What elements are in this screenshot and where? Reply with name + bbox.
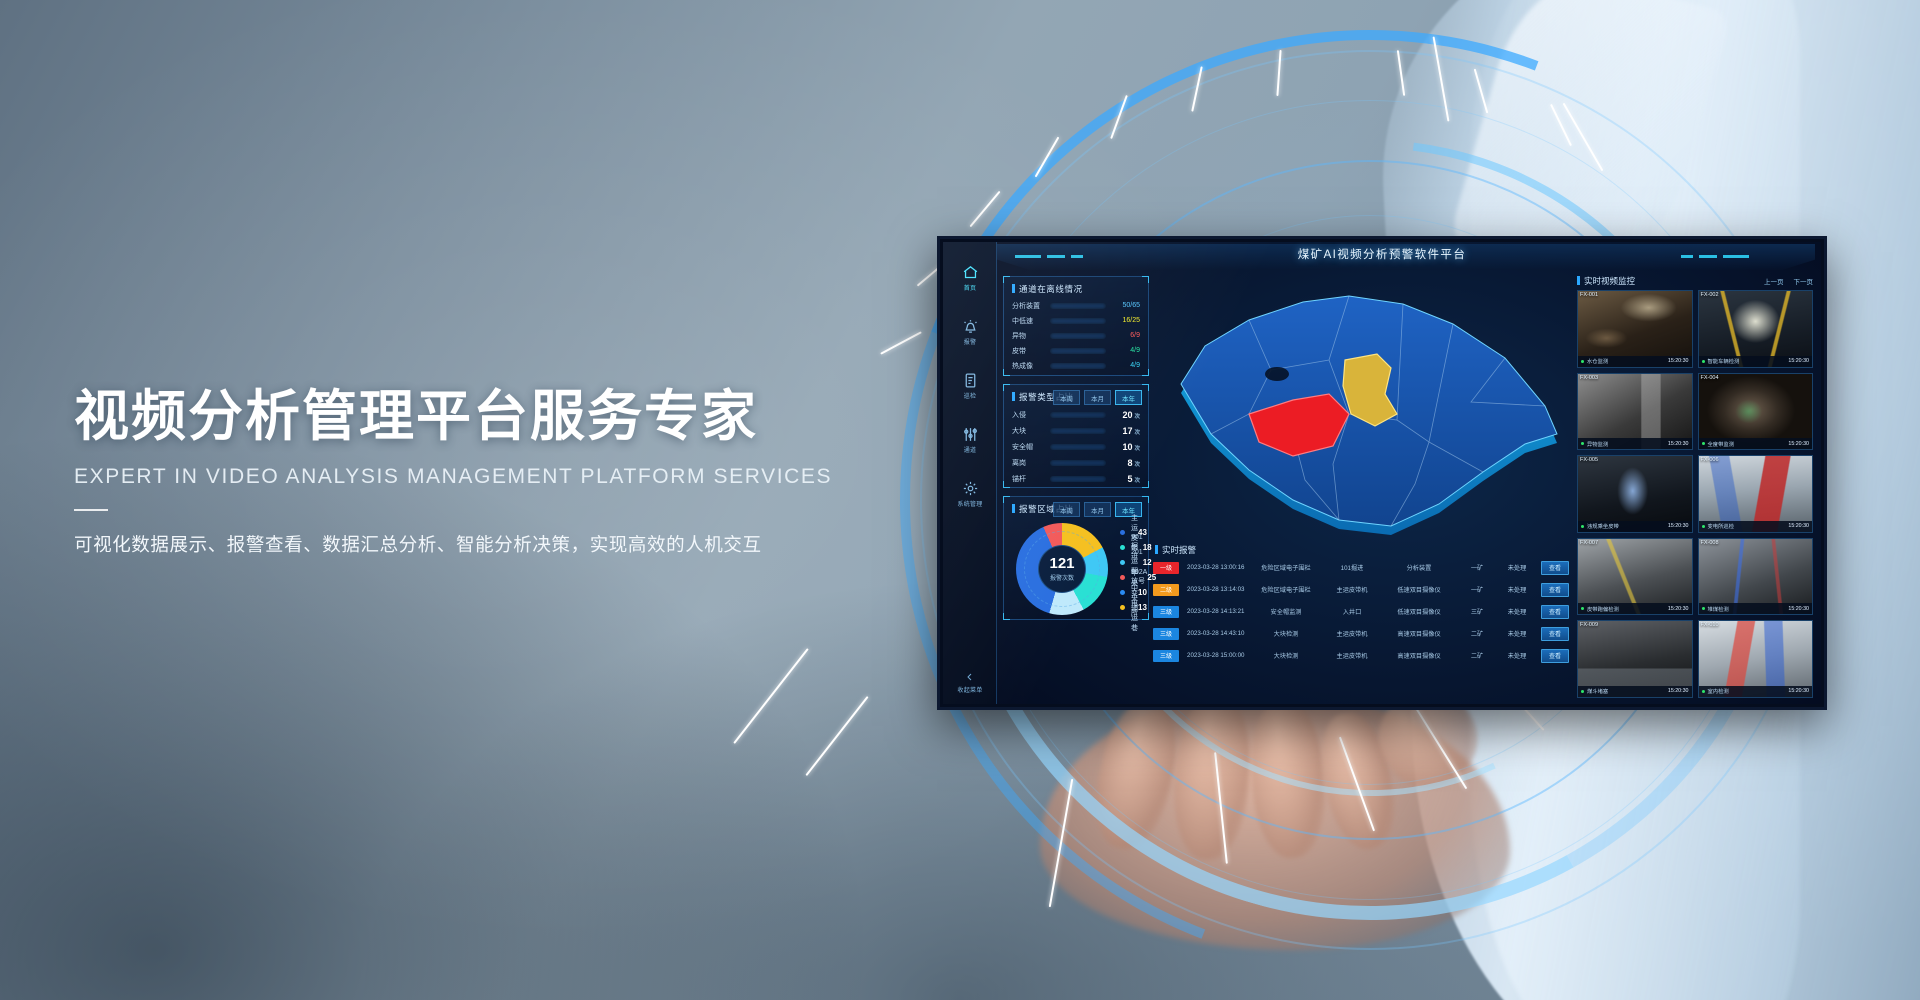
video-wall: 实时视频监控 上一页 下一页 FX-001 水仓监测 15:20:30 (1573, 274, 1817, 700)
camera-id: FX-010 (1701, 622, 1719, 628)
dashboard-title: 煤矿AI视频分析预警软件平台 (943, 246, 1821, 262)
channel-label: 热成像 (1012, 361, 1050, 371)
dashboard-monitor: 煤矿AI视频分析预警软件平台 首页 报警 巡检 通道 系统管理 (937, 236, 1827, 710)
channel-status-panel: 通道在离线情况 分析装置 50/65 中低速 16/25 异物 6/9 皮带 4… (1003, 276, 1149, 376)
camera-tile[interactable]: FX-007 皮带跑偏检测 15:20:30 (1577, 538, 1693, 616)
camera-time: 15:20:30 (1788, 606, 1809, 612)
hero-copy: 视频分析管理平台服务专家 EXPERT IN VIDEO ANALYSIS MA… (74, 386, 904, 557)
alarm-type-tabs: 本周 本月 本年 (1053, 390, 1142, 405)
camera-label: 变电所巡检 (1708, 522, 1789, 530)
view-button[interactable]: 查看 (1541, 627, 1569, 641)
online-dot (1702, 360, 1705, 363)
table-row[interactable]: 二级 2023-03-28 13:14:03 危险区域电子围栏 主运皮带机 低速… (1153, 581, 1569, 598)
camera-status-bar: 室内检测 15:20:30 (1699, 686, 1813, 697)
level-badge: 三级 (1153, 628, 1179, 640)
tab-week[interactable]: 本周 (1053, 390, 1080, 405)
alarm-state: 未处理 (1497, 651, 1537, 660)
camera-tile[interactable]: FX-008 堆煤检测 15:20:30 (1698, 538, 1814, 616)
camera-time: 15:20:30 (1788, 523, 1809, 529)
camera-status-bar: 水仓监测 15:20:30 (1578, 356, 1692, 367)
camera-tile[interactable]: FX-002 智能车辆检测 15:20:30 (1698, 290, 1814, 368)
camera-tile[interactable]: FX-009 煤斗堵塞 15:20:30 (1577, 620, 1693, 698)
legend-value: 13 (1138, 603, 1147, 612)
alarm-area: 主运皮带机 (1323, 651, 1381, 660)
alarm-action[interactable]: 查看 (1537, 627, 1569, 641)
alarm-state: 未处理 (1497, 563, 1537, 572)
alarm-type-count: 17次 (1106, 426, 1140, 436)
alarm-time: 2023-03-28 13:00:16 (1187, 564, 1249, 571)
alarm-mine: 一矿 (1457, 563, 1497, 572)
alarm-type-count: 20次 (1106, 410, 1140, 420)
realtime-alarm-table: 实时报警 一级 2023-03-28 13:00:16 危险区域电子围栏 101… (1153, 544, 1569, 700)
donut-center: 121 报警次数 (1038, 545, 1086, 593)
channel-bar (1050, 348, 1106, 354)
channel-label: 异物 (1012, 331, 1050, 341)
legend-dot (1120, 530, 1125, 535)
channel-icon (962, 426, 979, 443)
camera-label: 煤斗堵塞 (1587, 687, 1668, 695)
online-dot (1581, 690, 1584, 693)
legend-dot (1120, 590, 1125, 595)
alarm-action[interactable]: 查看 (1537, 649, 1569, 663)
camera-id: FX-004 (1701, 375, 1719, 381)
alarm-area-panel: 报警区域占比 本周 本月 本年 121 报警次数 主运皮带 43 (1003, 496, 1149, 620)
level-badge: 三级 (1153, 650, 1179, 662)
alarm-type-row: 锚杆 5次 (1012, 472, 1140, 485)
sidebar-collapse[interactable]: 收起菜单 (943, 671, 997, 694)
camera-status-bar: 异物监测 15:20:30 (1578, 438, 1692, 449)
online-dot (1702, 607, 1705, 610)
channel-value: 50/65 (1106, 302, 1140, 309)
camera-status-bar: 煤斗堵塞 15:20:30 (1578, 686, 1692, 697)
alarm-type: 危险区域电子围栏 (1249, 563, 1323, 572)
view-button[interactable]: 查看 (1541, 561, 1569, 575)
tab-year[interactable]: 本年 (1115, 390, 1142, 405)
alarm-type-count: 5次 (1106, 474, 1140, 484)
alarm-device: 分析装置 (1381, 563, 1457, 572)
collapse-icon (964, 671, 976, 683)
video-grid: FX-001 水仓监测 15:20:30 FX-002 智能车辆检测 (1577, 290, 1813, 698)
channel-value: 16/25 (1106, 317, 1140, 324)
camera-tile[interactable]: FX-004 全度带监测 15:20:30 (1698, 373, 1814, 451)
online-dot (1581, 607, 1584, 610)
alarm-mine: 一矿 (1457, 585, 1497, 594)
camera-id: FX-007 (1580, 540, 1598, 546)
video-wall-title: 实时视频监控 (1577, 275, 1635, 287)
camera-time: 15:20:30 (1668, 358, 1689, 364)
sidebar-label-home: 首页 (964, 283, 977, 292)
alarm-table-title: 实时报警 (1155, 544, 1196, 556)
channel-row: 分析装置 50/65 (1012, 299, 1140, 312)
sidebar-item-inspection[interactable]: 巡检 (943, 364, 997, 408)
donut-value: 121 (1049, 556, 1074, 571)
sidebar-item-home[interactable]: 首页 (943, 256, 997, 300)
home-icon (962, 264, 979, 281)
hero-headline: 视频分析管理平台服务专家 (74, 386, 904, 447)
alarm-type-label: 离岗 (1012, 458, 1050, 468)
dashboard-sidebar: 首页 报警 巡检 通道 系统管理 收起菜单 (943, 242, 997, 704)
legend-value: 18 (1143, 543, 1152, 552)
camera-status-bar: 堆煤检测 15:20:30 (1699, 603, 1813, 614)
view-button[interactable]: 查看 (1541, 583, 1569, 597)
alarm-type-label: 锚杆 (1012, 474, 1050, 484)
tab-month[interactable]: 本月 (1084, 390, 1111, 405)
alarm-type-row: 入侵 20次 (1012, 408, 1140, 421)
dashboard-screen: 煤矿AI视频分析预警软件平台 首页 报警 巡检 通道 系统管理 (943, 242, 1821, 704)
online-dot (1702, 690, 1705, 693)
sidebar-collapse-label: 收起菜单 (957, 685, 982, 694)
alarm-type-row: 安全帽 10次 (1012, 440, 1140, 453)
alarm-type: 大块检测 (1249, 629, 1323, 638)
table-row[interactable]: 三级 2023-03-28 14:13:21 安全帽监测 入井口 低速双目摄像仪… (1153, 603, 1569, 620)
alarm-mine: 二矿 (1457, 651, 1497, 660)
alarm-type-count: 10次 (1106, 442, 1140, 452)
tab-week[interactable]: 本周 (1053, 502, 1080, 517)
level-badge: 二级 (1153, 584, 1179, 596)
camera-label: 皮带跑偏检测 (1587, 605, 1668, 613)
camera-time: 15:20:30 (1788, 441, 1809, 447)
online-dot (1702, 525, 1705, 528)
gear-icon (962, 480, 979, 497)
alarm-area: 101掘进 (1323, 563, 1381, 572)
camera-id: FX-009 (1580, 622, 1598, 628)
camera-status-bar: 违规乘坐皮带 15:20:30 (1578, 521, 1692, 532)
channel-label: 皮带 (1012, 346, 1050, 356)
province-map[interactable] (1153, 274, 1573, 544)
camera-time: 15:20:30 (1668, 688, 1689, 694)
alarm-type-bar (1050, 476, 1106, 482)
tab-month[interactable]: 本月 (1084, 502, 1111, 517)
legend-dot (1120, 545, 1125, 550)
alarm-area: 入井口 (1323, 607, 1381, 616)
channel-panel-title: 通道在离线情况 (1012, 283, 1083, 295)
camera-tile[interactable]: FX-005 违规乘坐皮带 15:20:30 (1577, 455, 1693, 533)
legend-value: 12 (1143, 558, 1152, 567)
camera-label: 违规乘坐皮带 (1587, 522, 1668, 530)
camera-id: FX-005 (1580, 457, 1598, 463)
camera-label: 智能车辆检测 (1708, 357, 1789, 365)
alarm-type-bar (1050, 460, 1106, 466)
camera-id: FX-001 (1580, 292, 1598, 298)
camera-label: 室内检测 (1708, 687, 1789, 695)
alarm-area: 主运皮带机 (1323, 629, 1381, 638)
alarm-area-donut: 121 报警次数 (1016, 523, 1108, 615)
alarm-type-bar (1050, 444, 1106, 450)
camera-status-bar: 变电所巡检 15:20:30 (1699, 521, 1813, 532)
camera-time: 15:20:30 (1668, 523, 1689, 529)
online-dot (1581, 442, 1584, 445)
camera-tile[interactable]: FX-003 异物监测 15:20:30 (1577, 373, 1693, 451)
camera-time: 15:20:30 (1668, 606, 1689, 612)
camera-status-bar: 全度带监测 15:20:30 (1699, 438, 1813, 449)
channel-row: 皮带 4/9 (1012, 344, 1140, 357)
camera-label: 堆煤检测 (1708, 605, 1789, 613)
view-button[interactable]: 查看 (1541, 605, 1569, 619)
table-row[interactable]: 三级 2023-03-28 14:43:10 大块检测 主运皮带机 高速双目摄像… (1153, 625, 1569, 642)
camera-tile[interactable]: FX-001 水仓监测 15:20:30 (1577, 290, 1693, 368)
legend-item: 中央辅运巷 13 (1120, 600, 1142, 615)
level-badge: 一级 (1153, 562, 1179, 574)
alarm-type-panel: 报警类型占比 本周 本月 本年 入侵 20次 大块 17次 安全帽 10次 (1003, 384, 1149, 488)
alarm-mine: 二矿 (1457, 629, 1497, 638)
alarm-area: 主运皮带机 (1323, 585, 1381, 594)
alarm-type-row: 大块 17次 (1012, 424, 1140, 437)
alarm-type-label: 安全帽 (1012, 442, 1050, 452)
video-wall-header: 实时视频监控 上一页 下一页 (1577, 274, 1813, 287)
legend-dot (1120, 575, 1125, 580)
channel-value: 6/9 (1106, 332, 1140, 339)
alarm-device: 低速双目摄像仪 (1381, 607, 1457, 616)
alarm-area-tabs: 本周 本月 本年 (1053, 502, 1142, 517)
camera-time: 15:20:30 (1668, 441, 1689, 447)
table-row[interactable]: 三级 2023-03-28 15:00:00 大块检测 主运皮带机 高速双目摄像… (1153, 647, 1569, 664)
camera-label: 异物监测 (1587, 440, 1668, 448)
camera-time: 15:20:30 (1788, 688, 1809, 694)
alarm-state: 未处理 (1497, 607, 1537, 616)
alarm-type-bar (1050, 428, 1106, 434)
camera-status-bar: 智能车辆检测 15:20:30 (1699, 356, 1813, 367)
camera-id: FX-002 (1701, 292, 1719, 298)
channel-bar (1050, 303, 1106, 309)
sidebar-label-channel: 通道 (964, 445, 977, 454)
alarm-time: 2023-03-28 14:43:10 (1187, 630, 1249, 637)
camera-label: 全度带监测 (1708, 440, 1789, 448)
channel-row: 中低速 16/25 (1012, 314, 1140, 327)
hero-description: 可视化数据展示、报警查看、数据汇总分析、智能分析决策，实现高效的人机交互 (74, 531, 904, 557)
alarm-state: 未处理 (1497, 585, 1537, 594)
legend-name: 中央辅运巷 (1131, 583, 1138, 633)
inspection-icon (962, 372, 979, 389)
dashboard-header: 煤矿AI视频分析预警软件平台 (943, 242, 1821, 272)
level-badge: 三级 (1153, 606, 1179, 618)
online-dot (1581, 360, 1584, 363)
legend-dot (1120, 605, 1125, 610)
table-row[interactable]: 一级 2023-03-28 13:00:16 危险区域电子围栏 101掘进 分析… (1153, 559, 1569, 576)
hero-divider (74, 509, 108, 511)
hero-banner: 煤矿AI视频分析预警软件平台 首页 报警 巡检 通道 系统管理 (0, 0, 1920, 1000)
channel-bar (1050, 333, 1106, 339)
alarm-type-row: 离岗 8次 (1012, 456, 1140, 469)
hero-subheadline: EXPERT IN VIDEO ANALYSIS MANAGEMENT PLAT… (74, 465, 904, 489)
map-lake (1265, 367, 1289, 381)
camera-tile[interactable]: FX-006 变电所巡检 15:20:30 (1698, 455, 1814, 533)
prev-page-button[interactable]: 上一页 (1764, 276, 1784, 286)
camera-id: FX-008 (1701, 540, 1719, 546)
alarm-mine: 三矿 (1457, 607, 1497, 616)
alarm-action[interactable]: 查看 (1537, 583, 1569, 597)
channel-bar (1050, 318, 1106, 324)
alarm-device: 低速双目摄像仪 (1381, 585, 1457, 594)
alarm-type-count: 8次 (1106, 458, 1140, 468)
alarm-time: 2023-03-28 15:00:00 (1187, 652, 1249, 659)
alarm-type-label: 大块 (1012, 426, 1050, 436)
legend-dot (1120, 560, 1125, 565)
alarm-time: 2023-03-28 13:14:03 (1187, 586, 1249, 593)
sidebar-label-alarm: 报警 (964, 337, 977, 346)
channel-row: 异物 6/9 (1012, 329, 1140, 342)
next-page-button[interactable]: 下一页 (1794, 276, 1814, 286)
alarm-type: 安全帽监测 (1249, 607, 1323, 616)
sidebar-item-channel[interactable]: 通道 (943, 418, 997, 462)
alarm-action[interactable]: 查看 (1537, 561, 1569, 575)
alarm-area-legend: 主运皮带 43 901掘进 18 201运翻 12 902A放号 25 (1120, 525, 1142, 615)
alarm-device: 高速双目摄像仪 (1381, 629, 1457, 638)
channel-label: 分析装置 (1012, 301, 1050, 311)
camera-id: FX-003 (1580, 375, 1598, 381)
camera-time: 15:20:30 (1788, 358, 1809, 364)
alarm-type: 危险区域电子围栏 (1249, 585, 1323, 594)
alarm-type-bar (1050, 412, 1106, 418)
alarm-time: 2023-03-28 14:13:21 (1187, 608, 1249, 615)
channel-bar (1050, 363, 1106, 369)
camera-id: FX-006 (1701, 457, 1719, 463)
alarm-device: 高速双目摄像仪 (1381, 651, 1457, 660)
channel-label: 中低速 (1012, 316, 1050, 326)
alarm-icon (962, 318, 979, 335)
camera-status-bar: 皮带跑偏检测 15:20:30 (1578, 603, 1692, 614)
sidebar-item-alarm[interactable]: 报警 (943, 310, 997, 354)
online-dot (1581, 525, 1584, 528)
alarm-action[interactable]: 查看 (1537, 605, 1569, 619)
sidebar-item-system[interactable]: 系统管理 (943, 472, 997, 516)
channel-row: 热成像 4/9 (1012, 359, 1140, 372)
alarm-state: 未处理 (1497, 629, 1537, 638)
online-dot (1702, 442, 1705, 445)
view-button[interactable]: 查看 (1541, 649, 1569, 663)
donut-caption: 报警次数 (1050, 573, 1074, 582)
alarm-type-label: 入侵 (1012, 410, 1050, 420)
video-wall-nav: 上一页 下一页 (1764, 276, 1813, 286)
alarm-type: 大块检测 (1249, 651, 1323, 660)
sidebar-label-system: 系统管理 (957, 499, 982, 508)
channel-value: 4/9 (1106, 362, 1140, 369)
legend-value: 10 (1138, 588, 1147, 597)
camera-label: 水仓监测 (1587, 357, 1668, 365)
channel-value: 4/9 (1106, 347, 1140, 354)
camera-tile[interactable]: FX-010 室内检测 15:20:30 (1698, 620, 1814, 698)
sidebar-label-inspection: 巡检 (964, 391, 977, 400)
